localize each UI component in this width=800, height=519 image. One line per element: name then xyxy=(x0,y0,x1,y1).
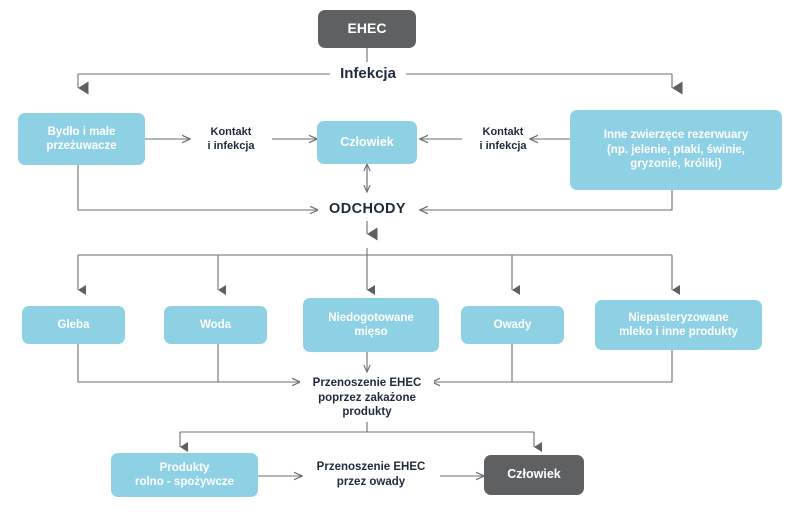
node-ehec-label: EHEC xyxy=(348,20,387,38)
node-soil-label: Gleba xyxy=(58,318,90,332)
label-contact-left-text: Kontakt i infekcja xyxy=(207,125,254,154)
label-transmission-via-products: Przenoszenie EHEC poprzez zakażone produ… xyxy=(300,374,434,422)
node-human-bottom[interactable]: Człowiek xyxy=(484,455,584,495)
node-undercooked-meat-label: Niedogotowane mięso xyxy=(328,311,414,340)
node-undercooked-meat[interactable]: Niedogotowane mięso xyxy=(303,298,439,352)
node-agri-products[interactable]: Produkty rolno - spożywcze xyxy=(111,453,258,497)
label-transmission-by-insects-text: Przenoszenie EHEC przez owady xyxy=(317,460,426,490)
node-water[interactable]: Woda xyxy=(164,306,267,344)
label-contact-right: Kontakt i infekcja xyxy=(462,120,544,158)
label-feces: ODCHODY xyxy=(318,198,417,220)
node-unpasteurized-milk[interactable]: Niepasteryzowane mleko i inne produkty xyxy=(595,300,762,350)
node-human-bottom-label: Człowiek xyxy=(507,467,561,483)
label-contact-left: Kontakt i infekcja xyxy=(190,120,272,158)
label-infekcja-text: Infekcja xyxy=(340,64,396,84)
node-ehec[interactable]: EHEC xyxy=(318,10,416,48)
node-insects-label: Owady xyxy=(494,318,532,332)
label-transmission-by-insects: Przenoszenie EHEC przez owady xyxy=(302,456,440,494)
label-infekcja: Infekcja xyxy=(330,62,406,86)
node-human-top-label: Człowiek xyxy=(340,135,394,151)
node-insects[interactable]: Owady xyxy=(461,306,564,344)
node-human-top[interactable]: Człowiek xyxy=(317,121,417,164)
node-water-label: Woda xyxy=(200,318,231,332)
label-transmission-via-products-text: Przenoszenie EHEC poprzez zakażone produ… xyxy=(313,376,422,421)
node-other-animal-reservoirs-label: Inne zwierzęce rezerwuary (np. jelenie, … xyxy=(604,128,748,171)
diagram-canvas: EHEC Infekcja Bydło i małe przeżuwacze K… xyxy=(0,0,800,519)
node-cattle[interactable]: Bydło i małe przeżuwacze xyxy=(18,113,145,165)
label-feces-text: ODCHODY xyxy=(329,200,406,219)
node-agri-products-label: Produkty rolno - spożywcze xyxy=(135,461,234,490)
node-cattle-label: Bydło i małe przeżuwacze xyxy=(46,125,116,154)
node-other-animal-reservoirs[interactable]: Inne zwierzęce rezerwuary (np. jelenie, … xyxy=(570,110,782,190)
node-soil[interactable]: Gleba xyxy=(22,306,125,344)
node-unpasteurized-milk-label: Niepasteryzowane mleko i inne produkty xyxy=(619,311,738,340)
label-contact-right-text: Kontakt i infekcja xyxy=(479,125,526,154)
